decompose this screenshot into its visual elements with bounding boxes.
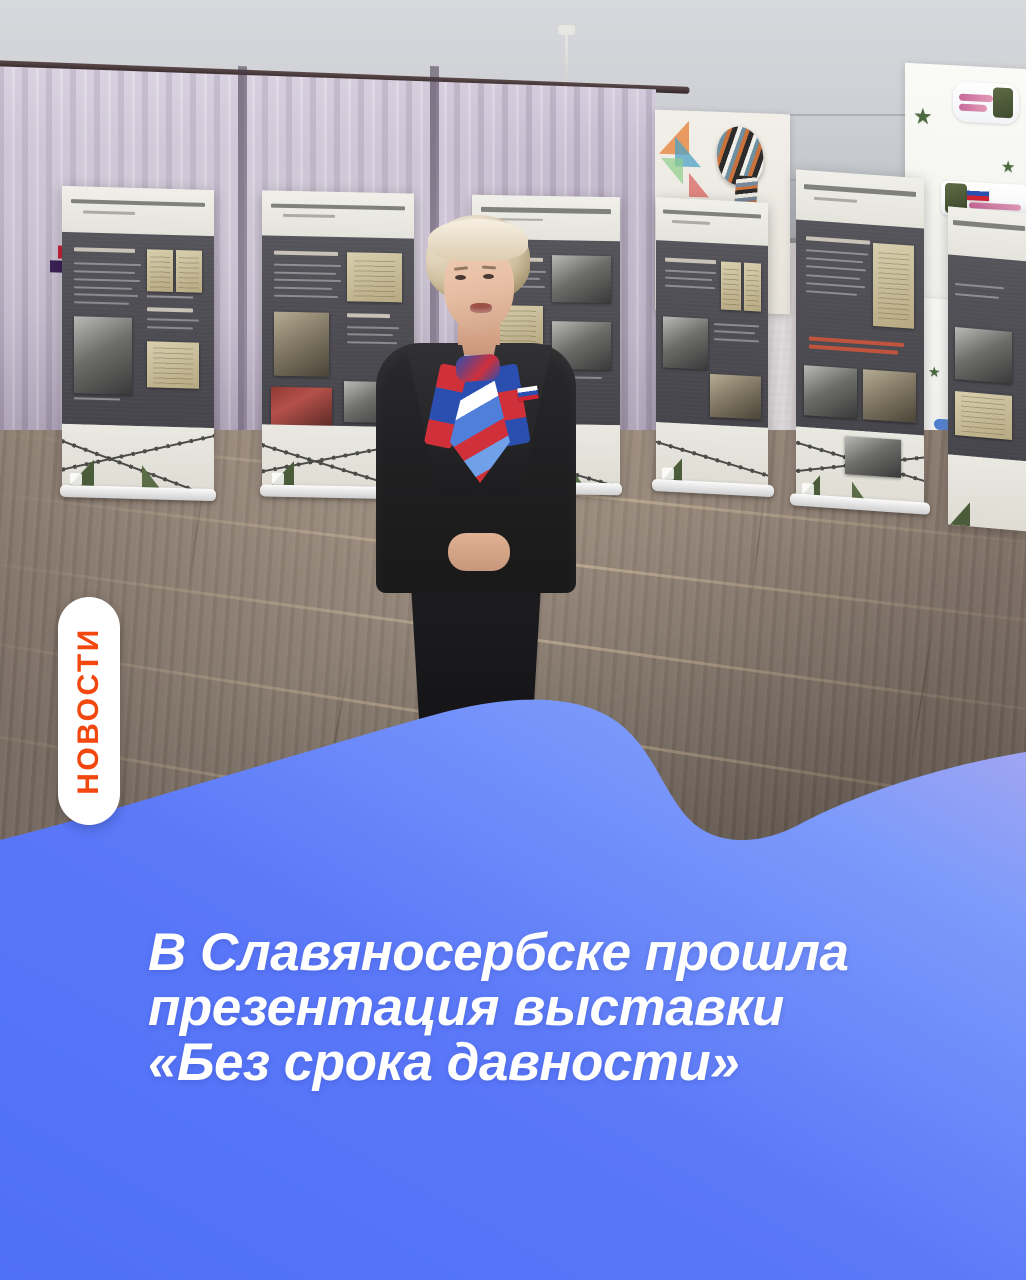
social-media-news-card: ые ★ ★ ★ ★ ★ ★ ★ ★ [0,0,1026,1280]
exhibition-banner [948,206,1026,531]
headline-line-1: В Славяносербске прошла [148,925,978,980]
category-badge[interactable]: НОВОСТИ [58,597,120,825]
category-badge-label: НОВОСТИ [72,627,106,795]
scarf-knot [455,353,501,382]
presenter-hair-front [428,219,528,261]
lamp-wire [565,28,568,90]
headline-line-3: «Без срока давности» [148,1035,978,1090]
banner-footer [62,424,214,495]
presenter-hands [448,533,510,571]
russian-flag-pin-icon [517,386,539,402]
exhibition-banner [796,170,924,509]
exhibition-banner [62,186,214,495]
exhibition-banner [656,197,768,491]
presenter-mouth [470,303,492,313]
presenter-figure [370,215,580,720]
headline: В Славяносербске прошла презентация выст… [148,925,978,1090]
headline-line-2: презентация выставки [148,980,978,1035]
banner-body [62,232,214,428]
banner-header [62,186,214,236]
